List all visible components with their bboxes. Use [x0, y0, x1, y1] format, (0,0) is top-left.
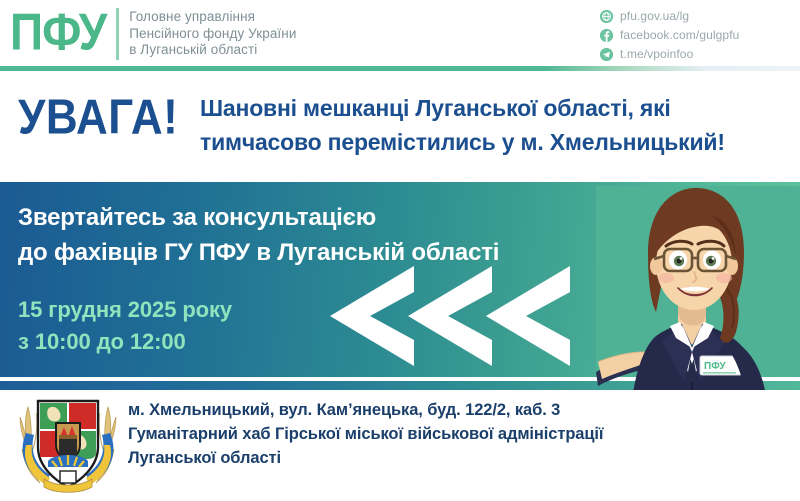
venue-address: м. Хмельницький, вул. Кам’янецька, буд. …	[128, 398, 648, 470]
poster-header: ПФУ Головне управління Пенсійного фонду …	[0, 0, 800, 66]
contact-telegram-text: t.me/vpoinfoo	[620, 47, 693, 61]
contact-facebook-text: facebook.com/gulgpfu	[620, 28, 739, 42]
badge-text: ПФУ	[704, 361, 726, 372]
logo-divider	[116, 8, 119, 60]
address-line-3: Луганської області	[128, 446, 648, 470]
banner-headline-line-1: Звертайтесь за консультацією	[18, 200, 638, 235]
pfu-logo-block: ПФУ Головне управління Пенсійного фонду …	[10, 6, 296, 60]
org-line-2: Пенсійного фонду України	[129, 26, 296, 43]
attention-word: УВАГА!	[18, 93, 178, 142]
pfu-logo-mark: ПФУ	[10, 6, 106, 58]
contact-website[interactable]: pfu.gov.ua/lg	[600, 8, 790, 24]
banner-headline-line-2: до фахівців ГУ ПФУ в Луганській області	[18, 235, 638, 270]
org-line-3: в Луганській області	[129, 42, 296, 59]
organization-name: Головне управління Пенсійного фонду Укра…	[129, 6, 296, 59]
contact-facebook[interactable]: facebook.com/gulgpfu	[600, 27, 790, 43]
attention-line-1: Шановні мешканці Луганської області, які	[200, 91, 800, 125]
chevron-left-icon-3	[486, 266, 570, 366]
banner-headline: Звертайтесь за консультацією до фахівців…	[18, 200, 638, 270]
attention-message: Шановні мешканці Луганської області, які…	[200, 91, 800, 159]
luhansk-oblast-coat-of-arms-icon	[14, 395, 122, 495]
contact-telegram[interactable]: t.me/vpoinfoo	[600, 46, 790, 62]
chevron-group	[330, 266, 610, 366]
org-line-1: Головне управління	[129, 9, 296, 26]
attention-line-2: тимчасово перемістились у м. Хмельницьки…	[200, 125, 800, 159]
telegram-icon	[600, 48, 613, 61]
contact-website-text: pfu.gov.ua/lg	[620, 9, 689, 23]
facebook-icon	[600, 29, 613, 42]
announcement-poster: ПФУ Головне управління Пенсійного фонду …	[0, 0, 800, 501]
contact-list: pfu.gov.ua/lg facebook.com/gulgpfu	[600, 8, 790, 65]
chevron-left-icon-1	[330, 266, 414, 366]
globe-icon	[600, 10, 613, 23]
address-line-2: Гуманітарний хаб Гірської міської військ…	[128, 422, 648, 446]
address-line-1: м. Хмельницький, вул. Кам’янецька, буд. …	[128, 398, 648, 422]
chevron-left-icon-2	[408, 266, 492, 366]
attention-section: УВАГА! Шановні мешканці Луганської облас…	[0, 71, 800, 182]
poster-footer: м. Хмельницький, вул. Кам’янецька, буд. …	[0, 390, 800, 501]
